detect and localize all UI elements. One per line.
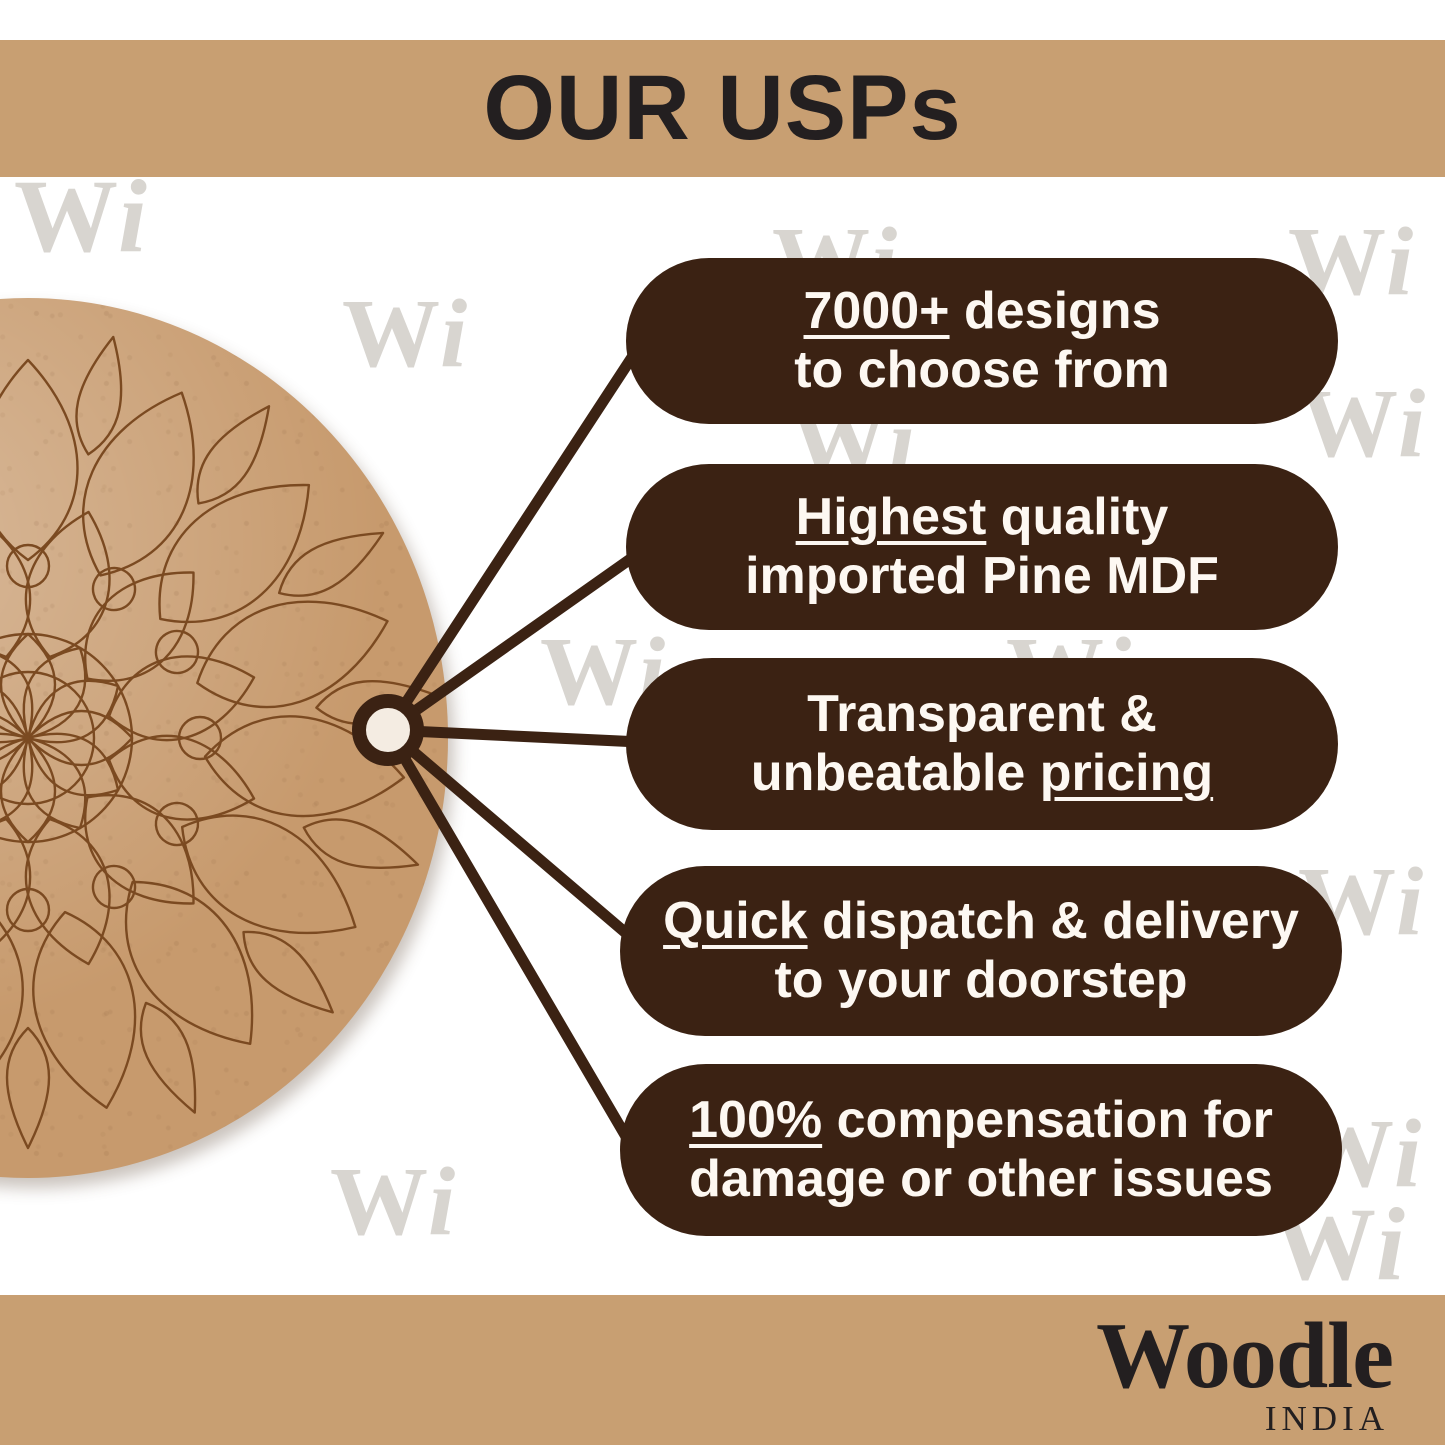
usp-keyword: Highest — [796, 488, 987, 546]
usp-keyword: Quick — [663, 892, 808, 950]
usp-line-2: unbeatable pricing — [751, 744, 1213, 803]
hub-node — [359, 701, 417, 759]
usp-pill-quality[interactable]: Highest quality imported Pine MDF — [626, 464, 1338, 630]
connector-line-4 — [388, 730, 634, 940]
connector-line-1 — [388, 345, 640, 730]
usp-pill-designs[interactable]: 7000+ designs to choose from — [626, 258, 1338, 424]
usp-line-2: imported Pine MDF — [745, 547, 1219, 606]
usp-line-1: 100% compensation for — [689, 1091, 1273, 1150]
usp-line-1: Transparent & — [807, 685, 1157, 744]
usp-line-1: Quick dispatch & delivery — [663, 892, 1299, 951]
usp-line-2: to choose from — [794, 341, 1170, 400]
usp-line-1: Highest quality — [796, 488, 1169, 547]
usp-pill-compensation[interactable]: 100% compensation for damage or other is… — [620, 1064, 1342, 1236]
usp-line-2: to your doorstep — [774, 951, 1187, 1010]
brand-name: Woodle — [1096, 1312, 1393, 1401]
usp-line-2: damage or other issues — [689, 1150, 1273, 1209]
brand-logo: Woodle INDIA — [1096, 1312, 1393, 1439]
usp-pill-pricing[interactable]: Transparent & unbeatable pricing — [626, 658, 1338, 830]
usp-infographic: OUR USPs Wi Wi Wi Wi Wi Wi Wi Wi Wi Wi W… — [0, 0, 1445, 1445]
usp-keyword: pricing — [1040, 744, 1213, 802]
connector-line-3 — [388, 730, 640, 742]
usp-keyword: 7000+ — [804, 282, 950, 340]
connector-line-5 — [388, 730, 628, 1140]
connector-line-2 — [388, 555, 636, 730]
usp-keyword: 100% — [689, 1091, 822, 1149]
usp-pill-dispatch[interactable]: Quick dispatch & delivery to your doorst… — [620, 866, 1342, 1036]
usp-line-1: 7000+ designs — [804, 282, 1161, 341]
